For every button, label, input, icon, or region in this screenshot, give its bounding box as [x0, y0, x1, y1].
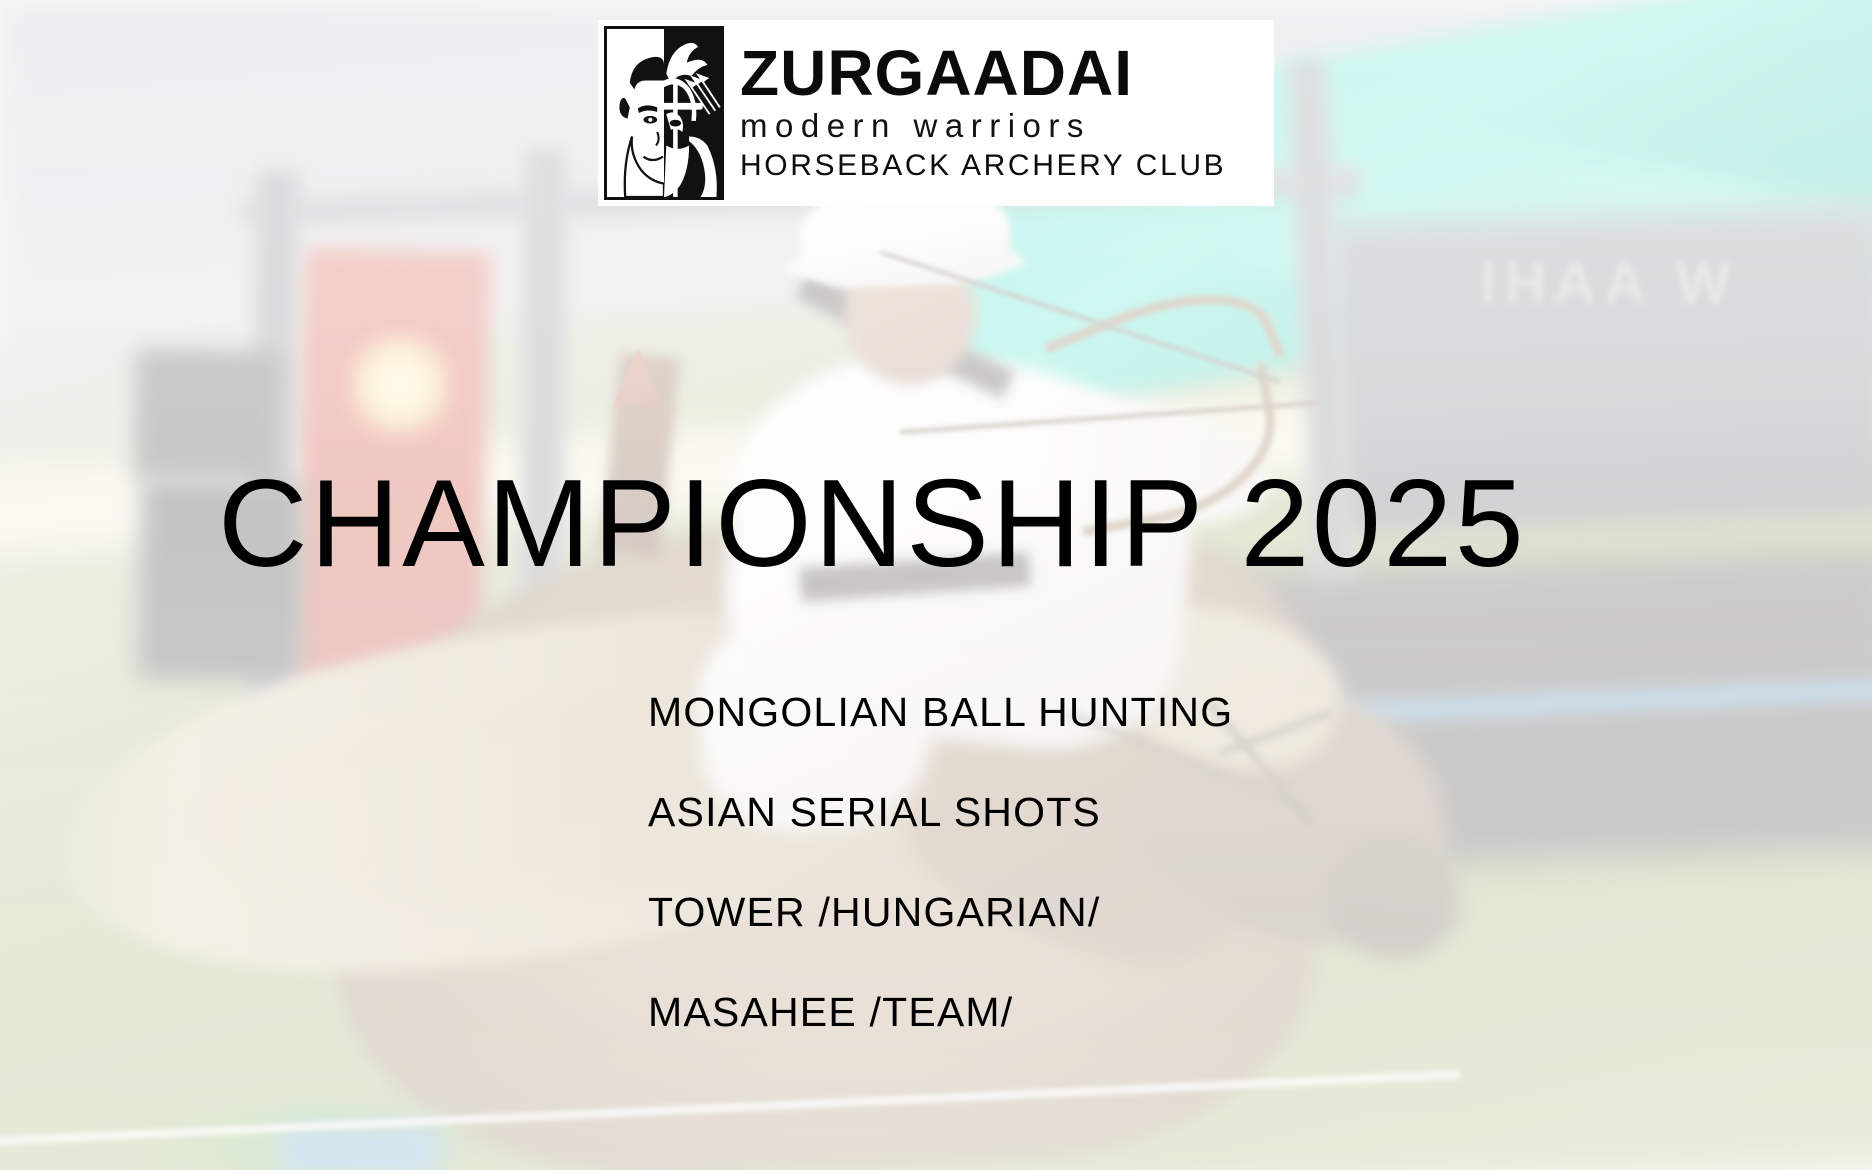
- foreground-blue-blur: [280, 1125, 440, 1170]
- club-logo-panel: ZURGAADAI modern warriors HORSEBACK ARCH…: [598, 20, 1274, 206]
- logo-club-name: ZURGAADAI: [740, 42, 1264, 104]
- logo-club-descriptor: HORSEBACK ARCHERY CLUB: [740, 149, 1264, 184]
- background-banner-text: IHAA W: [1480, 250, 1860, 345]
- championship-poster: IHAA W: [0, 0, 1872, 1170]
- event-list: MONGOLIAN BALL HUNTING ASIAN SERIAL SHOT…: [648, 692, 1233, 1092]
- list-item: ASIAN SERIAL SHOTS: [648, 792, 1233, 892]
- list-item: TOWER /HUNGARIAN/: [648, 892, 1233, 992]
- banner-sun-graphic: [345, 330, 455, 440]
- page-title: CHAMPIONSHIP 2025: [218, 462, 1526, 586]
- split-face-warrior-emblem-icon: [604, 26, 724, 200]
- list-item: MASAHEE /TEAM/: [648, 992, 1233, 1092]
- list-item: MONGOLIAN BALL HUNTING: [648, 692, 1233, 792]
- logo-tagline: modern warriors: [740, 106, 1264, 146]
- logo-wordmark: ZURGAADAI modern warriors HORSEBACK ARCH…: [724, 20, 1274, 206]
